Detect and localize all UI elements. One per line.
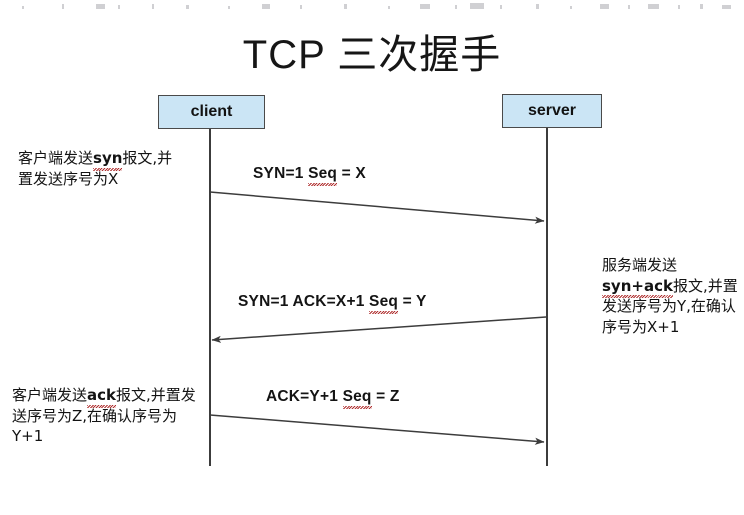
annotation-server-synack-note: 服务端发送syn+ack报文,并置发送序号为Y,在确认序号为X+1	[602, 255, 744, 338]
message-3-part-1: ACK=Y+1	[266, 388, 343, 405]
message-2-part-1: SYN=1 ACK=X+1	[238, 293, 369, 310]
annotation-1-seg-1: 客户端发送	[18, 149, 93, 167]
node-server-label: server	[528, 102, 576, 120]
message-2-part-2-seq: Seq	[369, 293, 398, 311]
message-2-part-3: = Y	[398, 293, 427, 310]
diagram-title-latin: TCP	[243, 33, 325, 77]
message-3-part-2-seq: Seq	[343, 388, 372, 406]
node-server-box[interactable]: server	[502, 94, 602, 128]
node-client-box[interactable]: client	[158, 95, 265, 129]
annotation-client-ack-note: 客户端发送ack报文,并置发送序号为Z,在确认序号为Y+1	[12, 385, 204, 447]
message-label-2: SYN=1 ACK=X+1 Seq = Y	[238, 293, 427, 311]
message-arrow-3	[210, 415, 544, 442]
message-1-part-1: SYN=1	[253, 165, 308, 182]
diagram-canvas: TCP 三次握手 client server SYN=1 Seq = X SYN…	[0, 0, 744, 515]
message-1-part-3: = X	[337, 165, 366, 182]
annotation-3-seg-2-ack: ack	[87, 385, 116, 406]
message-1-part-2-seq: Seq	[308, 165, 337, 183]
server-lifeline	[546, 128, 548, 466]
diagram-title-cn: 三次握手	[337, 32, 501, 78]
node-client-label: client	[191, 103, 233, 121]
scan-artifact-strip	[0, 0, 744, 9]
message-arrow-2	[212, 317, 546, 340]
annotation-1-seg-2-syn: syn	[93, 148, 122, 169]
diagram-title: TCP 三次握手	[0, 22, 744, 80]
message-label-1: SYN=1 Seq = X	[253, 165, 366, 183]
client-lifeline	[209, 129, 211, 466]
message-3-part-3: = Z	[372, 388, 400, 405]
annotation-2-seg-2-synack: syn+ack	[602, 276, 673, 297]
annotation-client-syn-note: 客户端发送syn报文,并置发送序号为X	[18, 148, 183, 189]
annotation-3-seg-1: 客户端发送	[12, 386, 87, 404]
annotation-2-seg-1: 服务端发送	[602, 256, 677, 274]
message-arrow-1	[210, 192, 544, 221]
message-label-3: ACK=Y+1 Seq = Z	[266, 388, 400, 406]
